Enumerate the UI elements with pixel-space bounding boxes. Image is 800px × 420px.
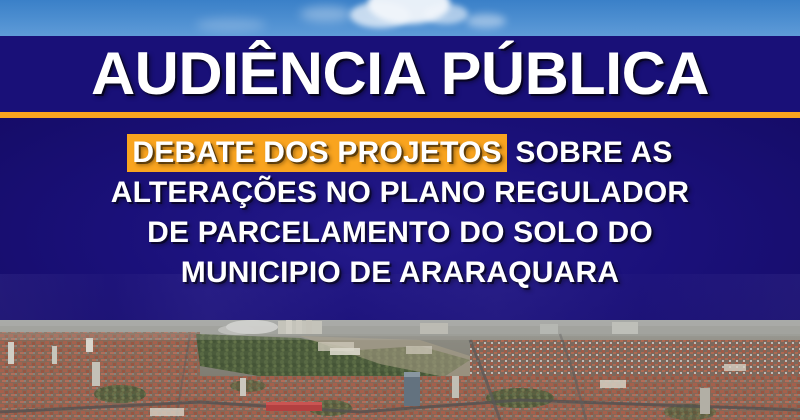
subtitle-line-1: DEBATE DOS PROJETOS SOBRE AS <box>0 133 800 173</box>
subtitle-line-3: DE PARCELAMENTO DO SOLO DO <box>0 213 800 253</box>
subtitle-line-4: MUNICIPIO DE ARARAQUARA <box>0 253 800 293</box>
cloud-icon <box>196 18 266 32</box>
aerial-city-photograph <box>0 320 800 420</box>
public-hearing-poster: AUDIÊNCIA PÚBLICA DEBATE DOS PROJETOS SO… <box>0 0 800 420</box>
title-band: AUDIÊNCIA PÚBLICA <box>0 36 800 112</box>
cloud-icon <box>300 6 352 22</box>
subtitle-block: DEBATE DOS PROJETOS SOBRE AS ALTERAÇÕES … <box>0 133 800 293</box>
sky-background <box>0 0 800 36</box>
cloud-icon <box>424 4 468 24</box>
highlighted-phrase: DEBATE DOS PROJETOS <box>127 134 506 172</box>
subtitle-line-1-rest: SOBRE AS <box>507 136 673 169</box>
orange-divider-rule <box>0 112 800 118</box>
page-title: AUDIÊNCIA PÚBLICA <box>91 44 709 104</box>
subtitle-line-2: ALTERAÇÕES NO PLANO REGULADOR <box>0 173 800 213</box>
cloud-icon <box>466 14 506 28</box>
